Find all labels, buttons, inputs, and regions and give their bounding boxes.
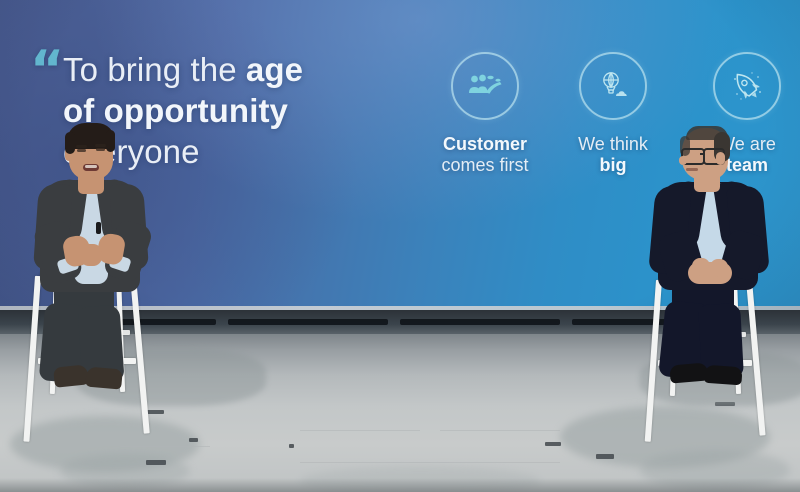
value-label-2-bold: big (600, 155, 627, 175)
value-item-customer: Customer comes first (420, 52, 550, 176)
quote-line-1-bold: age (246, 51, 303, 88)
value-ring-2 (579, 52, 647, 120)
rocket-icon (728, 67, 766, 105)
customers-people-icon (467, 71, 503, 101)
speaker-right (636, 126, 786, 426)
value-label-1-plain: comes first (441, 155, 528, 175)
value-label-1-bold: Customer (443, 134, 527, 154)
value-ring-1 (451, 52, 519, 120)
stage-scene: “ To bring the age of opportunity everyo… (0, 0, 800, 492)
speaker-left (18, 118, 168, 418)
quote-mark-icon: “ (30, 44, 63, 96)
floor-foreground-shade (0, 478, 800, 492)
value-label-1: Customer comes first (420, 134, 550, 176)
quote-line-1-plain: To bring the (63, 51, 246, 88)
lapel-mic-icon (96, 222, 101, 234)
hot-air-balloon-globe-icon (596, 69, 630, 103)
value-ring-3 (713, 52, 781, 120)
